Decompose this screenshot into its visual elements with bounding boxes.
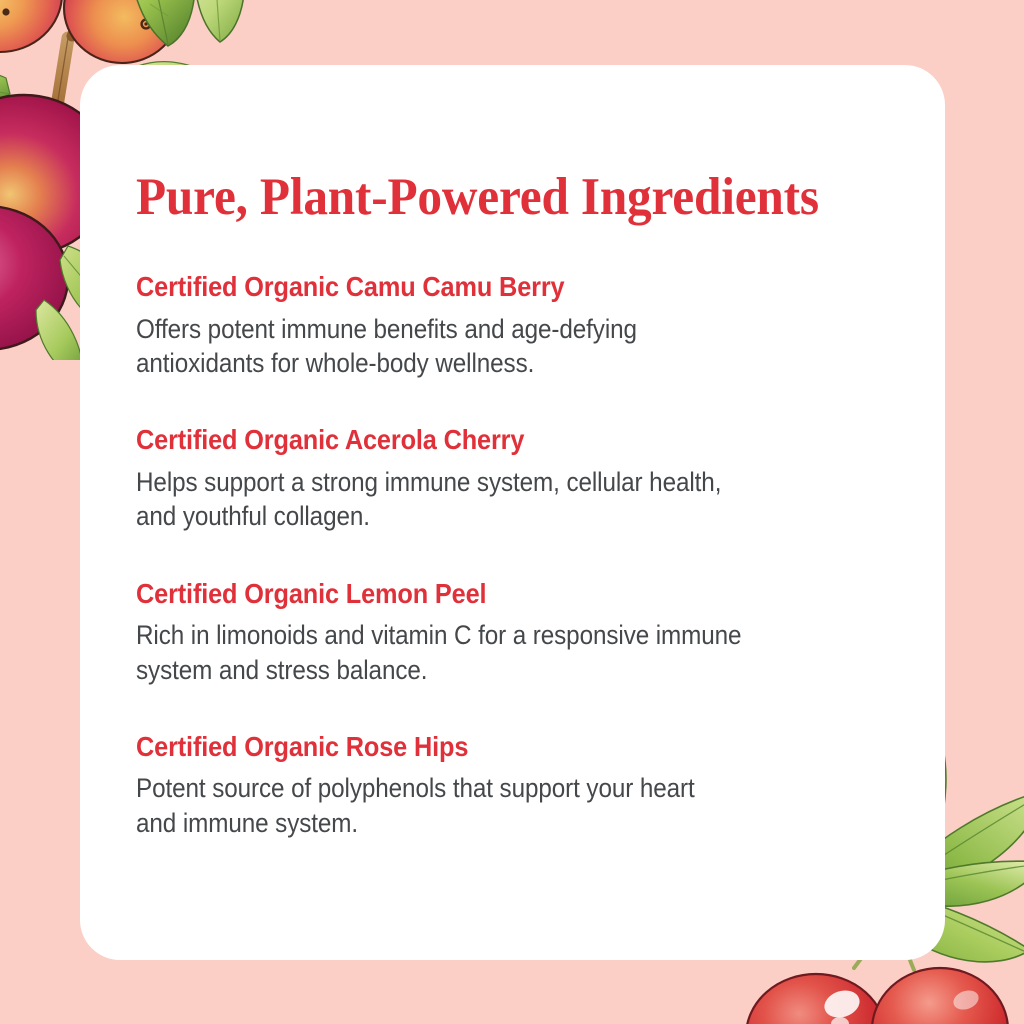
ingredient-description: Offers potent immune benefits and age-de… (136, 312, 887, 381)
ingredient-description: Potent source of polyphenols that suppor… (136, 771, 887, 840)
ingredient-name: Certified Organic Camu Camu Berry (136, 271, 835, 303)
page-title: Pure, Plant-Powered Ingredients (136, 170, 843, 225)
ingredients-infographic: Pure, Plant-Powered Ingredients Certifie… (0, 0, 1024, 1024)
ingredient-name: Certified Organic Rose Hips (136, 731, 835, 763)
ingredient-item-acerola-cherry: Certified Organic Acerola Cherry Helps s… (136, 424, 896, 533)
ingredient-item-rose-hips: Certified Organic Rose Hips Potent sourc… (136, 731, 896, 840)
ingredient-description: Rich in limonoids and vitamin C for a re… (136, 618, 887, 687)
ingredient-item-camu-camu-berry: Certified Organic Camu Camu Berry Offers… (136, 271, 896, 380)
ingredients-content: Pure, Plant-Powered Ingredients Certifie… (136, 170, 896, 840)
ingredient-description: Helps support a strong immune system, ce… (136, 465, 887, 534)
ingredient-name: Certified Organic Acerola Cherry (136, 424, 835, 456)
ingredient-name: Certified Organic Lemon Peel (136, 578, 835, 610)
ingredient-item-lemon-peel: Certified Organic Lemon Peel Rich in lim… (136, 578, 896, 687)
